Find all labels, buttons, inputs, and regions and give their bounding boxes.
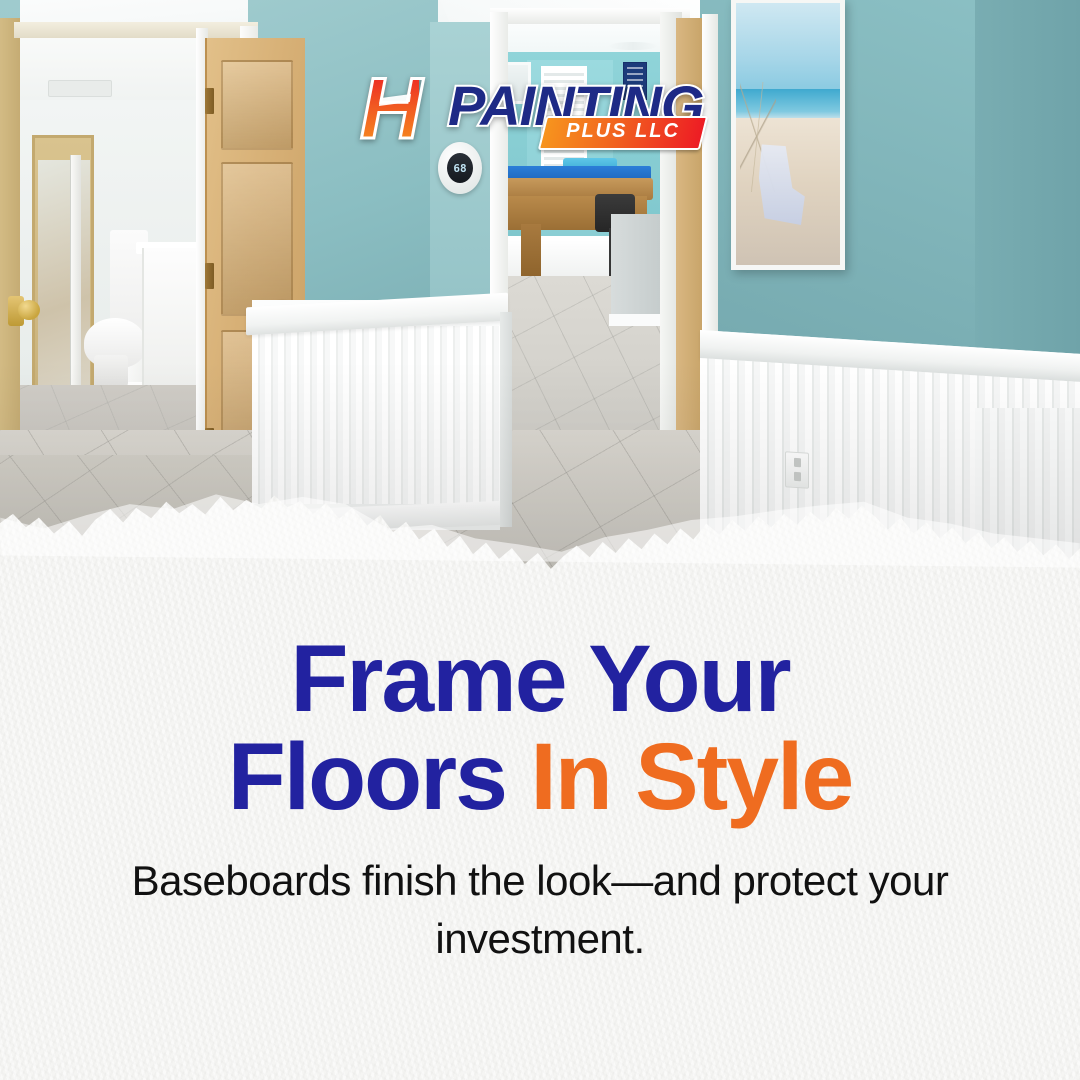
headline-line-2-accent: In Style [530, 724, 852, 830]
logo-tagline-text: PLUS LLC [556, 119, 690, 143]
headline-line-1: Frame Your [0, 630, 1080, 728]
social-post-poster: 68 H PAINTING [0, 0, 1080, 1080]
thermostat-reading: 68 [453, 163, 466, 174]
headline: Frame Your Floors In Style [0, 630, 1080, 826]
beach-artwork [731, 0, 845, 270]
ceiling-fan-icon [609, 42, 657, 50]
wainscot-return-face [500, 312, 512, 527]
game-room-side-baseboard [609, 314, 665, 326]
message-block: Frame Your Floors In Style Baseboards fi… [0, 630, 1080, 968]
ceiling-vent [48, 80, 112, 97]
door-panel-top [221, 60, 293, 150]
beadboard-wainscot-center [252, 300, 500, 530]
subheadline: Baseboards finish the look—and protect y… [90, 852, 990, 968]
beadboard-panels [252, 326, 500, 504]
toilet-base [94, 355, 128, 387]
electrical-outlet [785, 451, 809, 489]
door-panel-middle [221, 162, 293, 316]
vanity-cabinet [142, 248, 202, 398]
company-logo[interactable]: H PAINTING PLUS LLC [360, 68, 720, 158]
headline-line-2-primary: Floors [228, 724, 531, 830]
logo-h-mark: H [360, 66, 419, 152]
shower-door-edge [70, 155, 81, 410]
bathroom-door-header-trim [14, 22, 258, 38]
game-room-side-wall [611, 214, 665, 324]
door-knob-icon [18, 300, 40, 320]
headline-line-2: Floors In Style [0, 728, 1080, 826]
door-hinge-icon [205, 88, 214, 114]
door-hinge-icon [205, 263, 214, 289]
shower-glass-door [38, 160, 90, 400]
